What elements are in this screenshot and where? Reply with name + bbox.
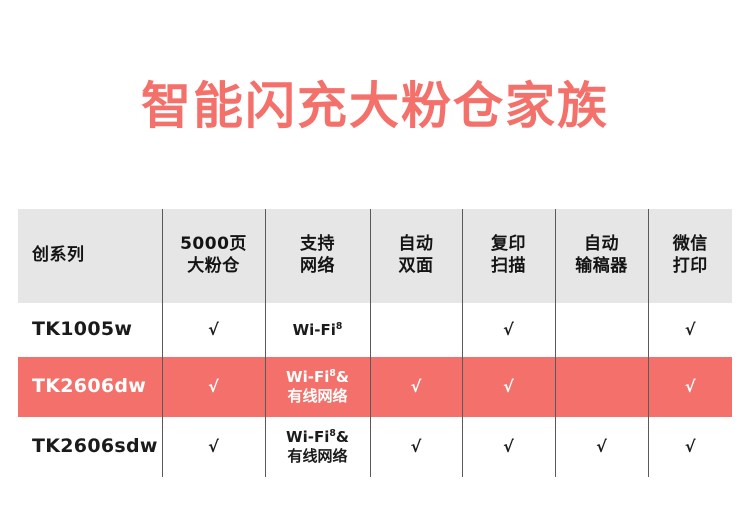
cell-network-text: Wi-Fi [286,428,329,446]
column-header-adf-line1: 自动 [556,234,648,256]
spec-table-container: 创系列 5000页 大粉仓 支持 网络 自动 双面 复印 [18,209,732,477]
cell-wechat-print: √ [648,357,732,417]
cell-adf: √ [555,417,648,477]
cell-network-line1: Wi-Fi8& [266,368,370,387]
cell-big-toner: √ [162,417,265,477]
column-header-wechat-print-line1: 微信 [649,234,733,256]
cell-duplex [370,303,462,357]
column-header-copy-scan-line1: 复印 [463,234,555,256]
cell-copy-scan: √ [462,303,555,357]
column-header-adf-line2: 输稿器 [556,256,648,278]
cell-network-line1: Wi-Fi8 [266,321,370,340]
column-header-adf: 自动 输稿器 [555,209,648,303]
cell-wechat-print: √ [648,303,732,357]
column-header-big-toner: 5000页 大粉仓 [162,209,265,303]
table-row: TK1005w √ Wi-Fi8 √ √ [18,303,732,357]
column-header-wechat-print: 微信 打印 [648,209,732,303]
cell-adf [555,303,648,357]
column-header-duplex-line2: 双面 [371,256,462,278]
promo-spec-sheet: 智能闪充大粉仓家族 创系列 5000页 大粉仓 支持 网络 [0,0,750,528]
column-header-series: 创系列 [18,209,162,303]
page-title: 智能闪充大粉仓家族 [141,78,609,136]
cell-network: Wi-Fi8& 有线网络 [265,417,370,477]
cell-network-line1: Wi-Fi8& [266,428,370,447]
column-header-copy-scan: 复印 扫描 [462,209,555,303]
cell-copy-scan: √ [462,417,555,477]
column-header-big-toner-line2: 大粉仓 [163,256,265,278]
cell-network: Wi-Fi8& 有线网络 [265,357,370,417]
cell-network-ampersand: & [336,428,349,446]
column-header-network: 支持 网络 [265,209,370,303]
column-header-duplex: 自动 双面 [370,209,462,303]
cell-model: TK2606sdw [18,417,162,477]
cell-adf [555,357,648,417]
column-header-big-toner-line1: 5000页 [163,234,265,256]
cell-duplex: √ [370,417,462,477]
column-header-duplex-line1: 自动 [371,234,462,256]
cell-network: Wi-Fi8 [265,303,370,357]
page-title-container: 智能闪充大粉仓家族 [0,78,750,136]
table-row-highlighted: TK2606dw √ Wi-Fi8& 有线网络 √ √ √ [18,357,732,417]
cell-network-line2: 有线网络 [266,387,370,406]
table-row: TK2606sdw √ Wi-Fi8& 有线网络 √ √ √ √ [18,417,732,477]
cell-wechat-print: √ [648,417,732,477]
column-header-network-line1: 支持 [266,234,370,256]
column-header-network-line2: 网络 [266,256,370,278]
cell-model: TK2606dw [18,357,162,417]
column-header-copy-scan-line2: 扫描 [463,256,555,278]
cell-network-text: Wi-Fi [293,321,336,339]
spec-table: 创系列 5000页 大粉仓 支持 网络 自动 双面 复印 [18,209,732,477]
column-header-wechat-print-line2: 打印 [649,256,733,278]
cell-network-superscript: 8 [336,321,342,332]
cell-model: TK1005w [18,303,162,357]
cell-big-toner: √ [162,357,265,417]
column-header-series-line1: 创系列 [32,245,85,265]
cell-network-line2: 有线网络 [266,447,370,466]
cell-network-text: Wi-Fi [286,368,329,386]
cell-duplex: √ [370,357,462,417]
cell-big-toner: √ [162,303,265,357]
cell-copy-scan: √ [462,357,555,417]
table-header-row: 创系列 5000页 大粉仓 支持 网络 自动 双面 复印 [18,209,732,303]
cell-network-ampersand: & [336,368,349,386]
